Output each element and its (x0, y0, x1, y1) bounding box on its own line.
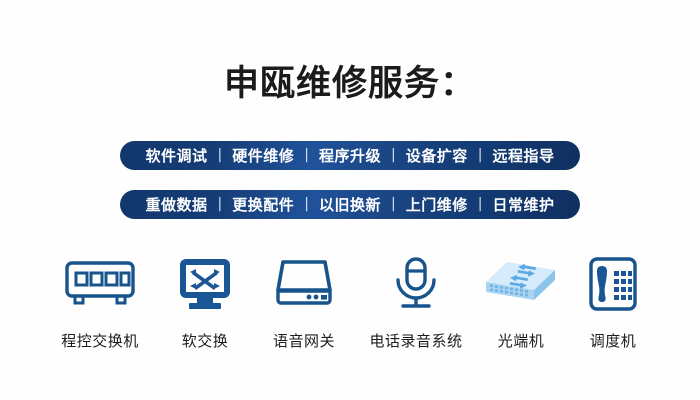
optical-terminal-icon (484, 252, 558, 316)
product-item-dispatch-phone: 调度机 (567, 252, 659, 351)
product-item-voice-gateway: 语音网关 (251, 252, 357, 351)
service-pill-row-2: 重做数据 | 更换配件 | 以旧换新 | 上门维修 | 日常维护 (120, 190, 580, 219)
service-separator: | (469, 196, 492, 212)
service-item: 日常维护 (491, 194, 555, 215)
product-item-soft-switch: 软交换 (159, 252, 251, 351)
product-item-recording-system: 电话录音系统 (357, 252, 475, 351)
product-label: 语音网关 (273, 330, 335, 351)
service-separator: | (295, 147, 318, 163)
page-title: 申瓯维修服务： (0, 62, 700, 106)
service-item: 重做数据 (145, 194, 209, 215)
service-pill-items-1: 软件调试 | 硬件维修 | 程序升级 | 设备扩容 | 远程指导 (120, 145, 580, 166)
microphone-record-icon (390, 252, 442, 316)
product-label: 电话录音系统 (369, 330, 462, 351)
product-label: 光端机 (498, 330, 545, 351)
product-item-pbx-switch: 程控交换机 (41, 252, 159, 351)
service-item: 硬件维修 (231, 145, 295, 166)
service-pill-items-2: 重做数据 | 更换配件 | 以旧换新 | 上门维修 | 日常维护 (120, 194, 580, 215)
service-separator: | (209, 196, 232, 212)
service-banner-page: 申瓯维修服务： 软件调试 | 硬件维修 | 程序升级 | 设备扩容 | 远程指导… (0, 0, 700, 400)
product-label: 调度机 (590, 330, 637, 351)
voice-gateway-icon (271, 252, 337, 316)
service-separator: | (382, 196, 405, 212)
service-separator: | (469, 147, 492, 163)
dispatch-phone-icon (587, 252, 639, 316)
service-item: 软件调试 (145, 145, 209, 166)
service-item: 上门维修 (405, 194, 469, 215)
pbx-switch-icon (63, 252, 137, 316)
soft-switch-icon (175, 252, 235, 316)
product-label: 程控交换机 (61, 330, 139, 351)
service-separator: | (295, 196, 318, 212)
product-item-optical-terminal: 光端机 (475, 252, 567, 351)
service-item: 程序升级 (318, 145, 382, 166)
product-icon-row: 程控交换机 (0, 252, 700, 351)
service-item: 更换配件 (231, 194, 295, 215)
service-item: 以旧换新 (318, 194, 382, 215)
product-label: 软交换 (182, 330, 229, 351)
service-item: 远程指导 (491, 145, 555, 166)
service-pill-row-1: 软件调试 | 硬件维修 | 程序升级 | 设备扩容 | 远程指导 (120, 141, 580, 170)
service-item: 设备扩容 (405, 145, 469, 166)
service-separator: | (209, 147, 232, 163)
service-separator: | (382, 147, 405, 163)
